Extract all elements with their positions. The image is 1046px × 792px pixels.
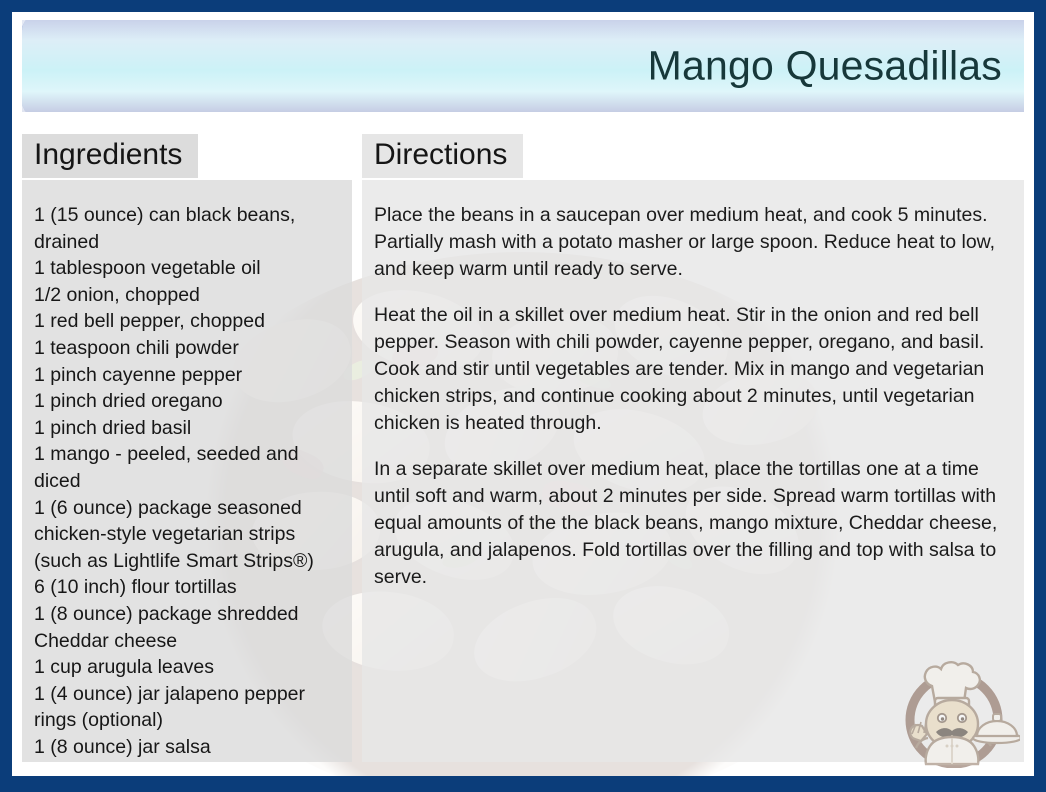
direction-step: Heat the oil in a skillet over medium he… bbox=[374, 302, 1010, 436]
direction-step: In a separate skillet over medium heat, … bbox=[374, 456, 1010, 590]
page-title: Mango Quesadillas bbox=[648, 43, 1002, 90]
directions-heading: Directions bbox=[362, 134, 523, 178]
direction-step: Place the beans in a saucepan over mediu… bbox=[374, 202, 1010, 282]
ingredients-heading: Ingredients bbox=[22, 134, 198, 178]
ingredients-panel: 1 (15 ounce) can black beans, drained 1 … bbox=[22, 180, 352, 762]
chef-mascot-logo bbox=[892, 642, 1020, 768]
recipe-page: Mango Quesadillas Ingredients 1 (15 ounc… bbox=[12, 12, 1034, 776]
title-banner: Mango Quesadillas bbox=[22, 20, 1024, 112]
ingredients-list: 1 (15 ounce) can black beans, drained 1 … bbox=[34, 202, 338, 760]
ingredients-column: Ingredients 1 (15 ounce) can black beans… bbox=[22, 134, 352, 762]
recipe-card: Mango Quesadillas Ingredients 1 (15 ounc… bbox=[0, 0, 1046, 792]
